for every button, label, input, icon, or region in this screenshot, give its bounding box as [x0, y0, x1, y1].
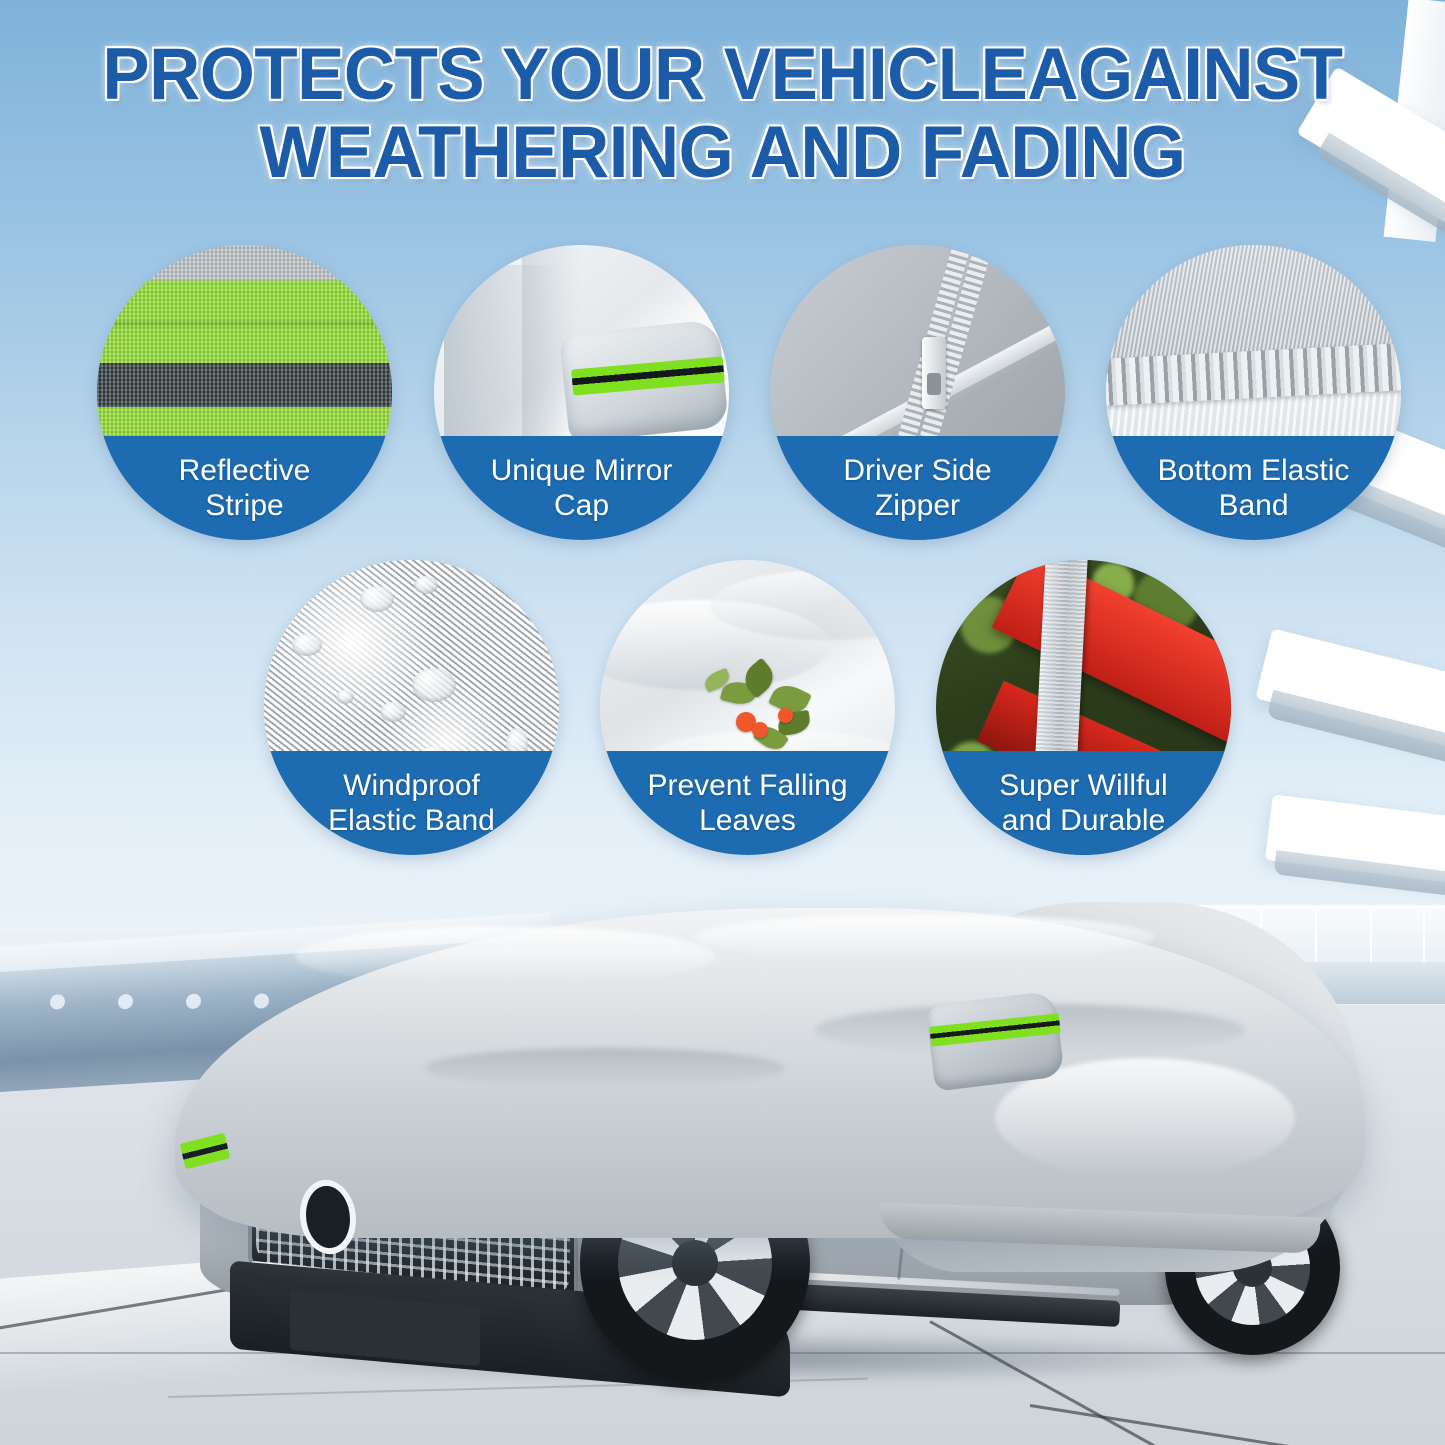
feature-caption-line-2: Stripe	[205, 489, 283, 522]
feature-prevent-falling-leaves[interactable]: Prevent Falling Leaves	[600, 560, 895, 855]
feature-reflective-stripe[interactable]: Reflective Stripe	[97, 245, 392, 540]
product-infographic: PROTECTS YOUR VEHICLEAGAINST WEATHERING …	[0, 0, 1445, 1445]
feature-windproof-elastic-band[interactable]: Windproof Elastic Band	[264, 560, 559, 855]
feature-caption-line-1: Windproof	[343, 769, 480, 802]
front-wheel-hub	[672, 1240, 718, 1286]
feature-caption-line-1: Reflective	[179, 454, 311, 487]
car-cover-fabric	[175, 908, 1365, 1238]
feature-super-willful-and-durable[interactable]: Super Willful and Durable	[936, 560, 1231, 855]
hero-car-with-cover	[0, 880, 1445, 1445]
feature-caption: Driver Side Zipper	[770, 436, 1065, 540]
feature-driver-side-zipper[interactable]: Driver Side Zipper	[770, 245, 1065, 540]
feature-caption: Bottom Elastic Band	[1106, 436, 1401, 540]
feature-caption-line-2: Band	[1218, 489, 1288, 522]
feature-caption: Super Willful and Durable	[936, 751, 1231, 855]
feature-bottom-elastic-band[interactable]: Bottom Elastic Band	[1106, 245, 1401, 540]
feature-caption-line-2: Leaves	[699, 804, 796, 837]
feature-unique-mirror-cap[interactable]: Unique Mirror Cap	[434, 245, 729, 540]
feature-caption-line-2: Zipper	[875, 489, 960, 522]
feature-caption-line-2: Cap	[554, 489, 609, 522]
page-title: PROTECTS YOUR VEHICLEAGAINST WEATHERING …	[22, 36, 1424, 192]
feature-caption: Windproof Elastic Band	[264, 751, 559, 855]
feature-caption: Prevent Falling Leaves	[600, 751, 895, 855]
feature-caption-line-1: Prevent Falling	[647, 769, 847, 802]
feature-caption-line-2: Elastic Band	[328, 804, 495, 837]
feature-caption-line-1: Super Willful	[999, 769, 1167, 802]
feature-caption-line-1: Bottom Elastic	[1158, 454, 1350, 487]
headline-line-2: WEATHERING AND FADING	[22, 114, 1424, 192]
feature-caption-line-2: and Durable	[1002, 804, 1165, 837]
feature-caption: Unique Mirror Cap	[434, 436, 729, 540]
feature-caption-line-1: Driver Side	[843, 454, 991, 487]
feature-caption: Reflective Stripe	[97, 436, 392, 540]
headline-line-1: PROTECTS YOUR VEHICLEAGAINST	[102, 34, 1342, 115]
feature-caption-line-1: Unique Mirror	[491, 454, 673, 487]
